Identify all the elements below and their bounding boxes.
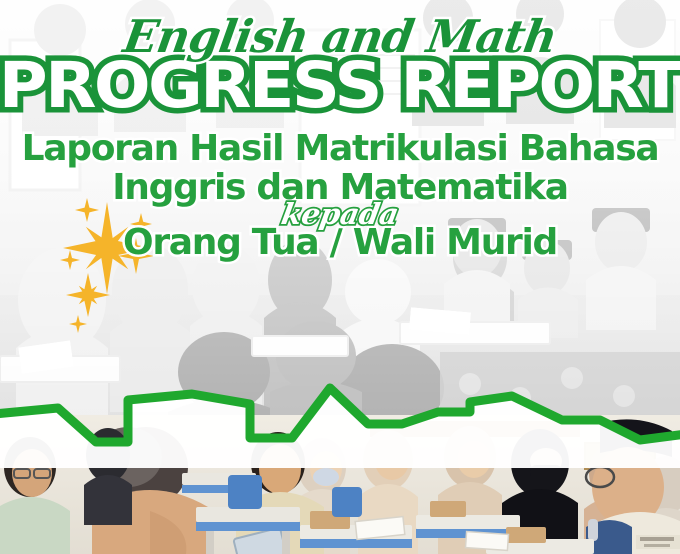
script-subtitle-english-and-math: English and Math: [0, 14, 680, 59]
page-title-progress-report: PROGRESS REPORT: [0, 55, 680, 117]
script-word-kepada: kepada: [0, 200, 680, 229]
poster-canvas: English and Math PROGRESS REPORT Laporan…: [0, 0, 680, 554]
sparkle-tiny-bottom-icon: [69, 315, 87, 333]
subtitle-line-1: Laporan Hasil Matrikulasi Bahasa: [0, 131, 680, 167]
sparkle-medium-icon: [66, 273, 110, 317]
bottom-classroom-photo: [0, 415, 680, 554]
